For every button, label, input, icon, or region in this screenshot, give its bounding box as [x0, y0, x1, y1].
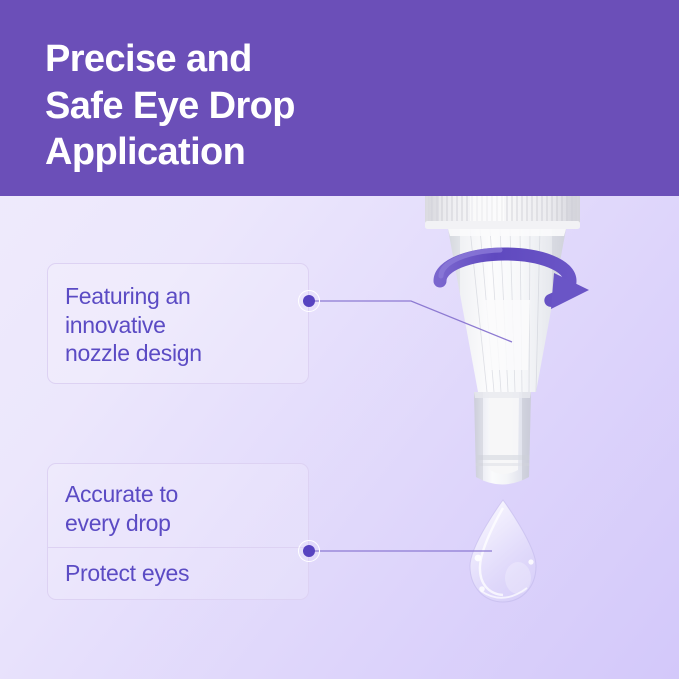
callout-accuracy-label: Accurate to every drop	[65, 480, 293, 537]
nozzle-cone	[448, 229, 566, 392]
water-droplet	[470, 500, 536, 602]
connector-node-droplet[interactable]	[298, 540, 320, 562]
callout-accuracy[interactable]: Accurate to every drop Protect eyes	[47, 463, 309, 600]
promo-graphic: Precise and Safe Eye Drop Application Fe…	[0, 0, 679, 679]
page-title: Precise and Safe Eye Drop Application	[45, 36, 365, 176]
callout-protect-eyes-label: Protect eyes	[65, 559, 293, 588]
connector-node-nozzle[interactable]	[298, 290, 320, 312]
nozzle-tip	[474, 392, 534, 485]
callout-nozzle-design[interactable]: Featuring an innovative nozzle design	[47, 263, 309, 384]
callout-nozzle-design-label: Featuring an innovative nozzle design	[65, 282, 293, 368]
callout-divider	[48, 547, 310, 548]
header-banner: Precise and Safe Eye Drop Application	[0, 0, 679, 196]
